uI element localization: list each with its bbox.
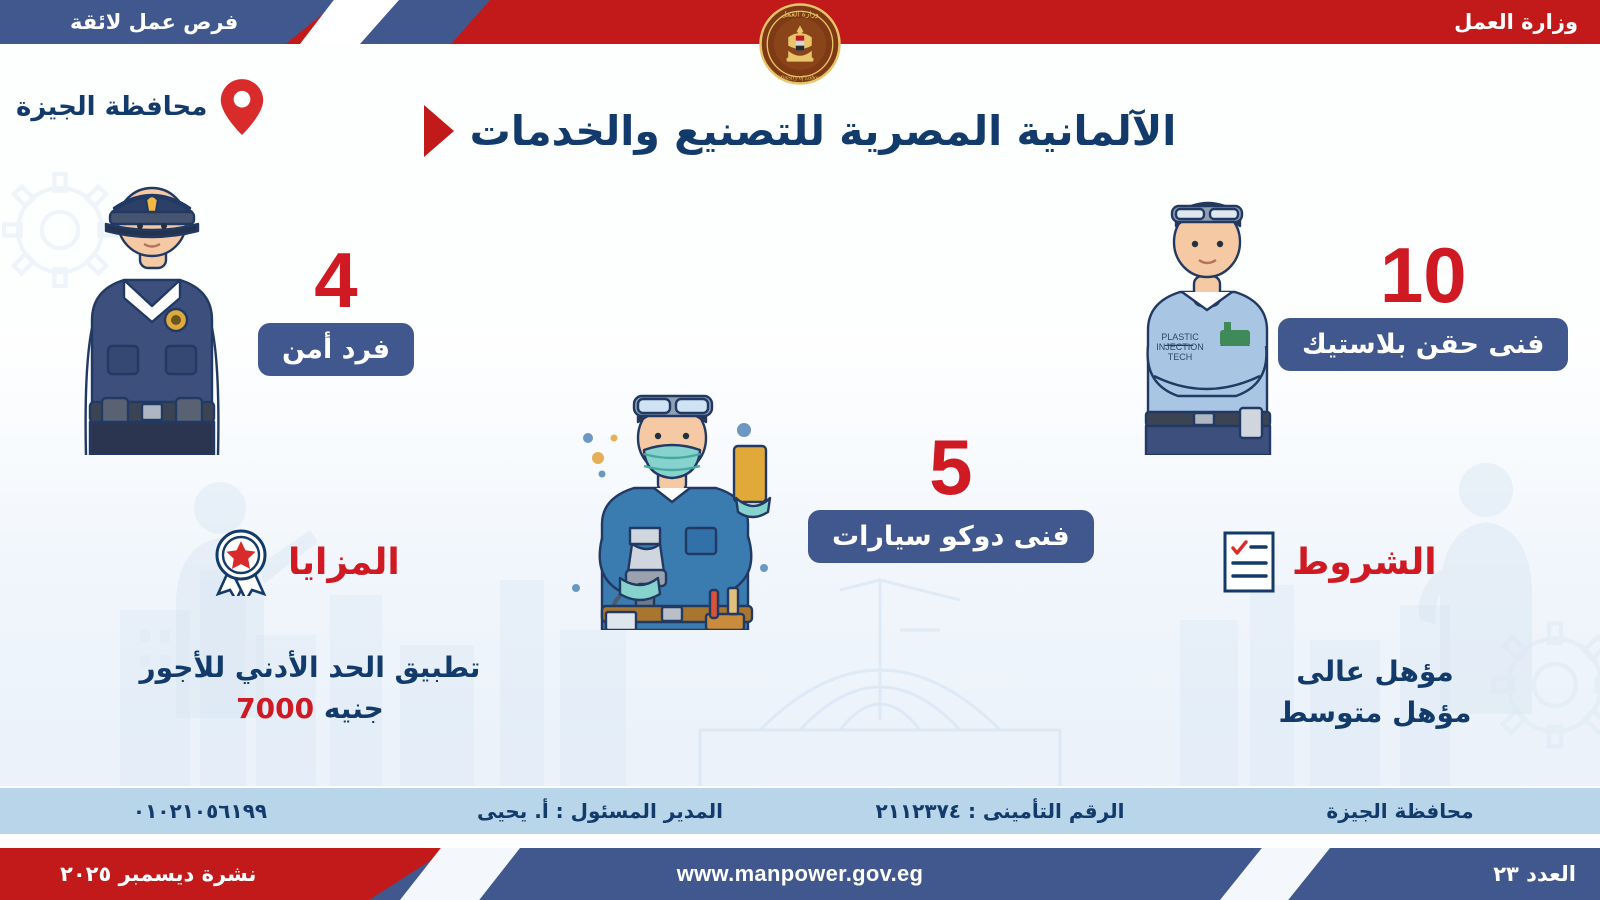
job-title-car-duco: فنى دوكو سيارات xyxy=(808,510,1094,563)
triangle-left-icon xyxy=(424,105,454,157)
plastic-injection-technician-illustration: PLASTIC INJECTION TECH xyxy=(1120,180,1295,455)
job-vacancy-poster: وزارة العمل فرص عمل لائقة وزارة العمل Mi… xyxy=(0,0,1600,900)
award-medal-icon xyxy=(210,528,272,596)
job-card-plastic-injection: 10 فنى حقن بلاستيك xyxy=(1278,240,1568,371)
info-responsible-manager: المدير المسئول : أ. يحيى xyxy=(400,799,800,823)
slogan-label: فرص عمل لائقة xyxy=(70,0,238,44)
job-card-security: 4 فرد أمن xyxy=(258,245,414,376)
job-count-security: 4 xyxy=(258,245,414,317)
benefits-heading-row: المزايا xyxy=(210,528,400,596)
svg-text:INJECTION: INJECTION xyxy=(1156,342,1204,352)
ministry-name-label: وزارة العمل xyxy=(1454,0,1578,44)
svg-text:وزارة العمل: وزارة العمل xyxy=(781,9,819,18)
job-count-plastic-injection: 10 xyxy=(1278,240,1568,312)
conditions-heading: الشروط xyxy=(1292,542,1437,583)
info-phone-number[interactable]: ٠١٠٢١٠٥٦١٩٩ xyxy=(0,799,400,823)
benefits-heading: المزايا xyxy=(288,542,400,583)
job-count-car-duco: 5 xyxy=(808,432,1094,504)
svg-text:Ministry of Labour: Ministry of Labour xyxy=(777,74,823,81)
bulletin-date-label: نشرة ديسمبر ٢٠٢٥ xyxy=(60,848,256,900)
issue-number-label: العدد ٢٣ xyxy=(1493,848,1576,900)
checklist-clipboard-icon xyxy=(1222,530,1276,594)
job-title-plastic-injection: فنى حقن بلاستيك xyxy=(1278,318,1568,371)
info-insurance-number: الرقم التأمينى : ٢١١٢٣٧٤ xyxy=(800,799,1200,823)
conditions-item-2: مؤهل متوسط xyxy=(1210,693,1540,734)
conditions-item-1: مؤهل عالى xyxy=(1210,652,1540,693)
benefits-body: تطبيق الحد الأدني للأجور جنيه 7000 xyxy=(110,648,510,729)
company-title-row: الآلمانية المصرية للتصنيع والخدمات xyxy=(0,105,1600,157)
benefits-amount: 7000 xyxy=(236,692,314,725)
job-title-security: فرد أمن xyxy=(258,323,414,376)
car-painter-illustration xyxy=(558,378,790,630)
job-card-car-duco: 5 فنى دوكو سيارات xyxy=(808,432,1094,563)
benefits-line-1: تطبيق الحد الأدني للأجور xyxy=(110,648,510,689)
contact-info-bar: محافظة الجيزة الرقم التأمينى : ٢١١٢٣٧٤ ا… xyxy=(0,786,1600,836)
bottom-banner: www.manpower.gov.eg العدد ٢٣ نشرة ديسمبر… xyxy=(0,848,1600,900)
info-governorate: محافظة الجيزة xyxy=(1200,799,1600,823)
svg-text:PLASTIC: PLASTIC xyxy=(1161,332,1199,342)
svg-text:TECH: TECH xyxy=(1168,352,1193,362)
conditions-heading-row: الشروط xyxy=(1222,530,1437,594)
security-guard-illustration xyxy=(62,170,242,455)
page-title: الآلمانية المصرية للتصنيع والخدمات xyxy=(470,107,1177,155)
ministry-of-labour-emblem: وزارة العمل Ministry of Labour xyxy=(758,2,842,86)
benefits-line-2: جنيه 7000 xyxy=(110,689,510,730)
benefits-currency: جنيه xyxy=(324,692,384,725)
conditions-body: مؤهل عالى مؤهل متوسط xyxy=(1210,652,1540,733)
